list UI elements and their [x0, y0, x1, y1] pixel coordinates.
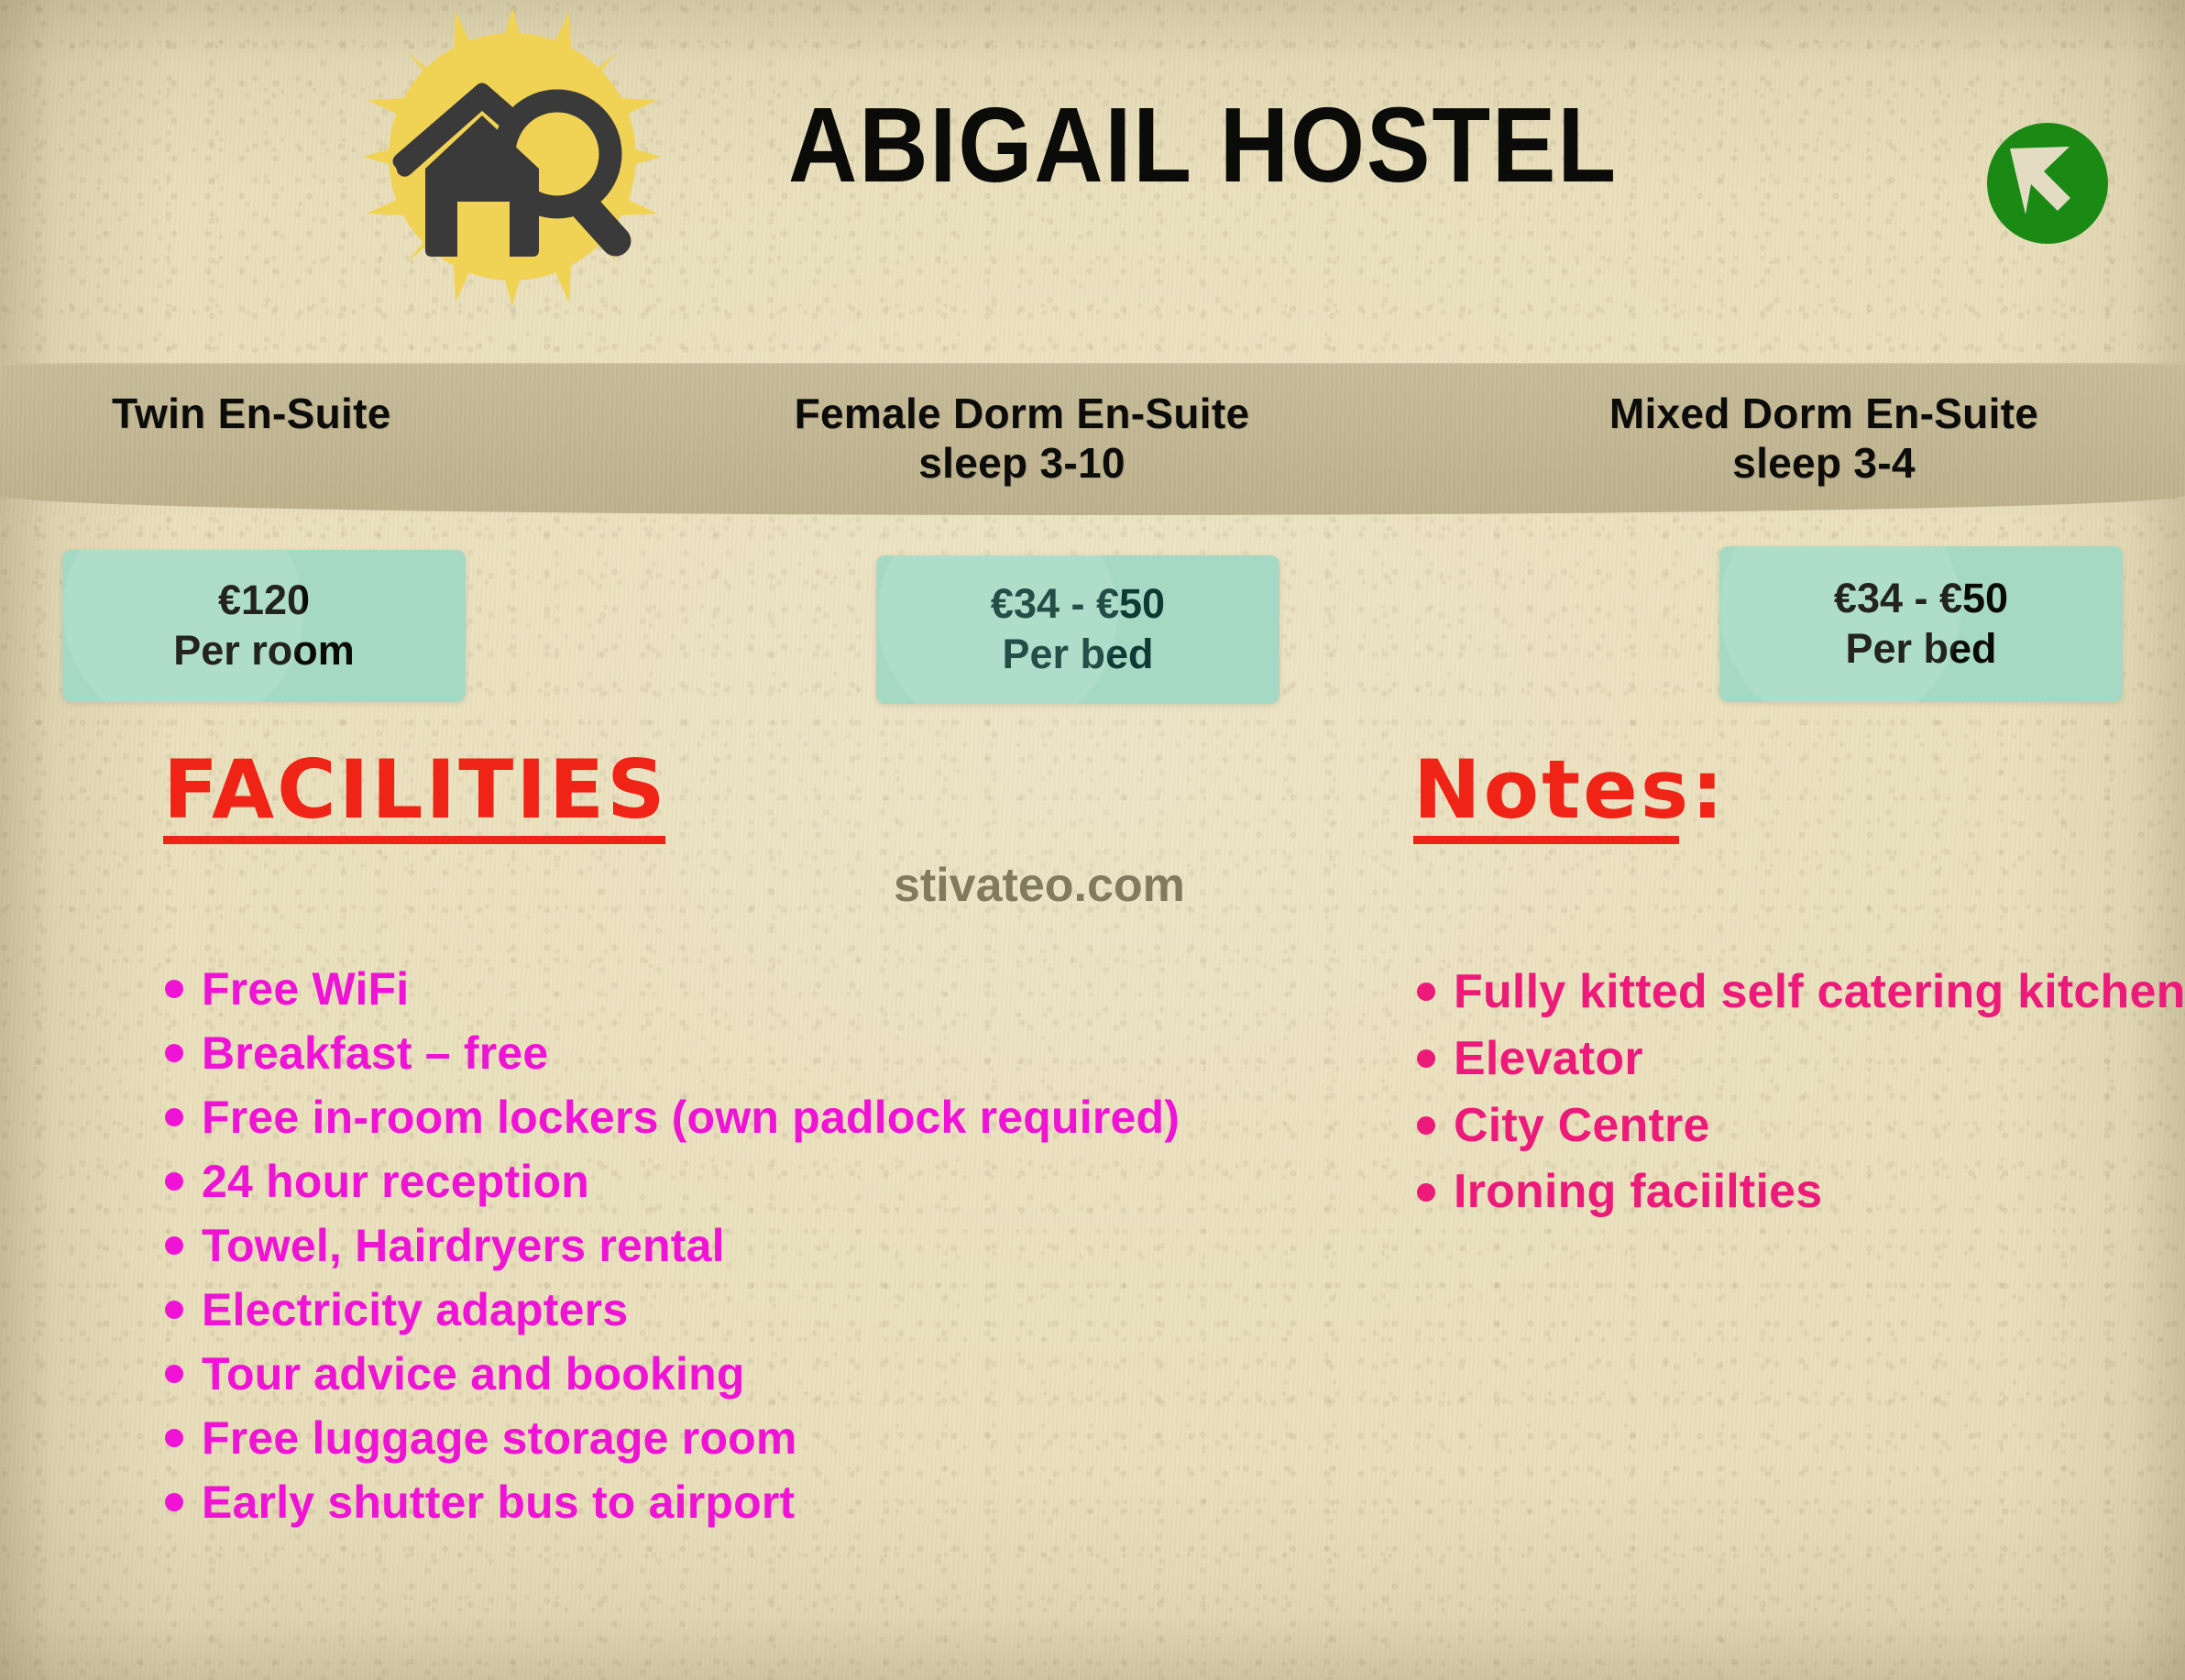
room-name: Twin En-Suite: [112, 390, 391, 437]
room-sleep: sleep 3-4: [1485, 438, 2163, 488]
room-heading-mixed-dorm: Mixed Dorm En-Suite sleep 3-4: [1485, 389, 2163, 489]
list-item: City Centre: [1413, 1093, 2185, 1159]
list-item: 24 hour reception: [161, 1149, 1180, 1213]
notes-list: Fully kitted self catering kitchen Eleva…: [1413, 959, 2185, 1225]
list-item: Towel, Hairdryers rental: [161, 1213, 1180, 1278]
room-sleep: sleep 3-10: [642, 438, 1402, 488]
list-item: Free WiFi: [161, 957, 1180, 1021]
facilities-list: Free WiFi Breakfast – free Free in-room …: [161, 957, 1180, 1534]
list-item: Breakfast – free: [161, 1021, 1180, 1085]
price-unit: Per bed: [1719, 624, 2123, 675]
cursor-arrow-icon[interactable]: [1985, 121, 2110, 246]
notes-heading: Notes:: [1413, 750, 1726, 844]
list-item: Early shutter bus to airport: [161, 1470, 1180, 1534]
poster-canvas: ABIGAIL HOSTEL Twin En-Suite Female Dorm…: [0, 0, 2185, 1680]
page-title: ABIGAIL HOSTEL: [788, 92, 1696, 198]
room-heading-twin: Twin En-Suite: [112, 389, 552, 438]
list-item: Free luggage storage room: [161, 1406, 1180, 1470]
facilities-heading-text: FACILITIES: [163, 742, 668, 837]
price-amount: €34 - €50: [876, 579, 1279, 630]
room-heading-female-dorm: Female Dorm En-Suite sleep 3-10: [642, 389, 1402, 489]
price-unit: Per room: [62, 626, 466, 676]
room-type-band: Twin En-Suite Female Dorm En-Suite sleep…: [0, 363, 2185, 515]
price-amount: €120: [62, 576, 466, 626]
heading-underline: [1413, 836, 1679, 844]
sun-house-magnifier-icon: [363, 7, 662, 306]
room-name: Female Dorm En-Suite: [795, 390, 1250, 437]
price-unit: Per bed: [876, 630, 1279, 680]
list-item: Electricity adapters: [161, 1278, 1180, 1342]
price-chip-female-dorm: €34 - €50 Per bed: [876, 555, 1279, 704]
price-amount: €34 - €50: [1719, 574, 2123, 624]
list-item: Fully kitted self catering kitchen: [1413, 959, 2185, 1026]
heading-underline: [163, 836, 665, 844]
list-item: Free in-room lockers (own padlock requir…: [161, 1085, 1180, 1149]
price-chip-mixed-dorm: €34 - €50 Per bed: [1719, 546, 2123, 702]
list-item: Elevator: [1413, 1026, 2185, 1093]
list-item: Ironing faciilties: [1413, 1158, 2185, 1225]
price-chip-twin: €120 Per room: [62, 550, 466, 702]
watermark: stivateo.com: [894, 858, 1185, 913]
notes-heading-text: Notes:: [1413, 742, 1726, 837]
list-item: Tour advice and booking: [161, 1342, 1180, 1406]
room-name: Mixed Dorm En-Suite: [1609, 390, 2038, 437]
facilities-heading: FACILITIES: [163, 750, 668, 844]
